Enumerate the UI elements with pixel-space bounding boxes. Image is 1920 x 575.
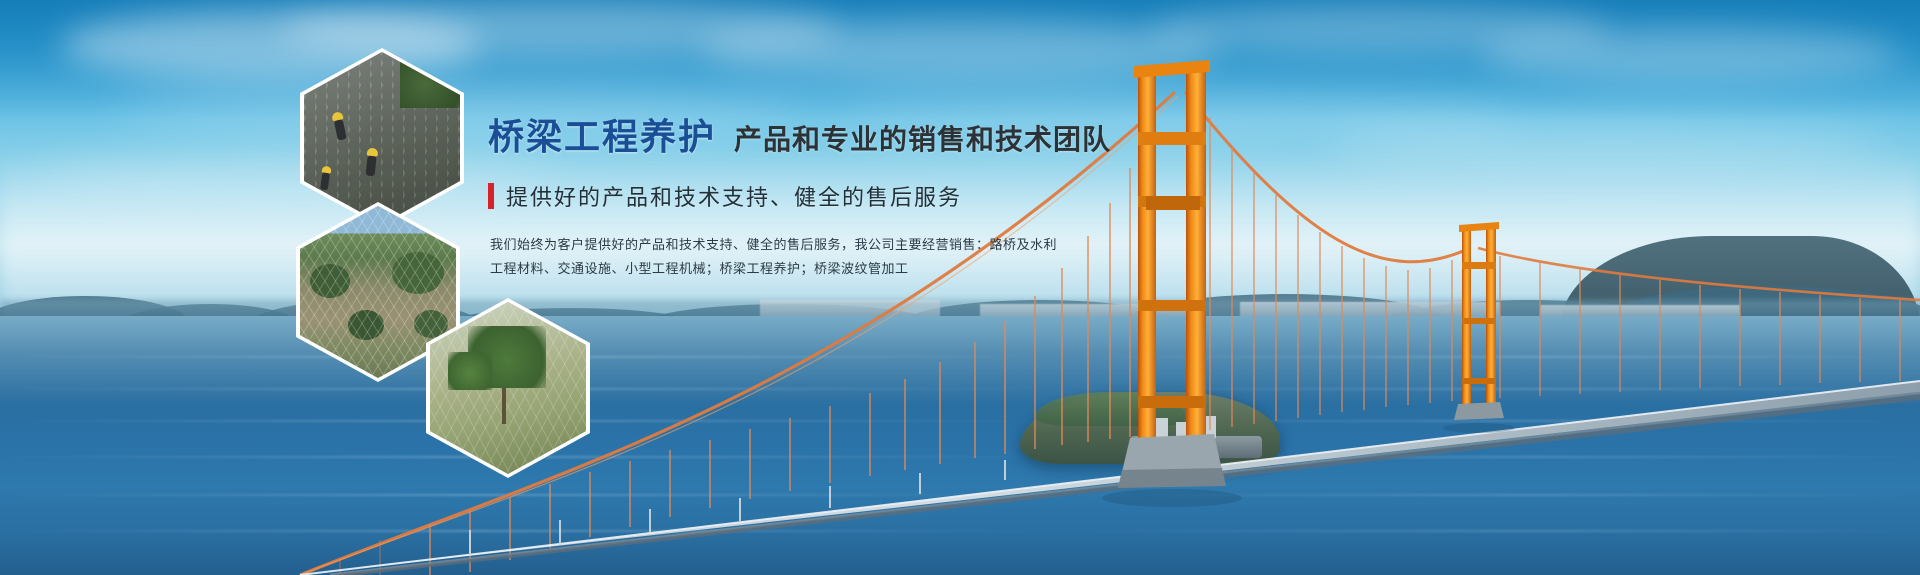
photo-tree	[400, 52, 460, 108]
headline-secondary: 产品和专业的销售和技术团队	[734, 125, 1111, 158]
headline-row: 桥梁工程养护 产品和专业的销售和技术团队	[488, 118, 1248, 158]
worker-body	[366, 156, 377, 177]
banner-subtitle: 提供好的产品和技术支持、健全的售后服务	[506, 180, 962, 212]
headline-primary: 桥梁工程养护	[488, 118, 716, 158]
accent-bar	[488, 183, 494, 209]
photo-tree-crown	[448, 352, 492, 390]
worker-body	[320, 172, 330, 190]
gallery-item-rock-slope-mesh-workers[interactable]	[304, 52, 460, 224]
suspension-bridge	[0, 0, 1920, 575]
subtitle-row: 提供好的产品和技术支持、健全的售后服务	[488, 180, 1248, 212]
banner-copy: 桥梁工程养护 产品和专业的销售和技术团队 提供好的产品和技术支持、健全的售后服务…	[488, 118, 1248, 282]
banner-description: 我们始终为客户提供好的产品和技术支持、健全的售后服务，我公司主要经营销售：路桥及…	[490, 234, 910, 282]
description-line-1: 我们始终为客户提供好的产品和技术支持、健全的售后服务，我公司主要经营销售：路桥及…	[490, 234, 910, 258]
description-line-2: 工程材料、交通设施、小型工程机械；桥梁工程养护；桥梁波纹管加工	[490, 258, 910, 282]
photo-rock-slope	[304, 52, 460, 224]
hero-banner: 桥梁工程养护 产品和专业的销售和技术团队 提供好的产品和技术支持、健全的售后服务…	[0, 0, 1920, 575]
